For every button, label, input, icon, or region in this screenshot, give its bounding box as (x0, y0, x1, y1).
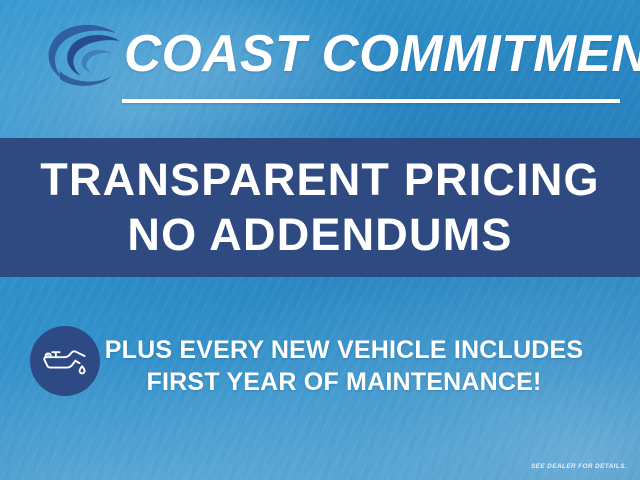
promo-section: PLUS EVERY NEW VEHICLE INCLUDES FIRST YE… (0, 300, 640, 410)
headline-line-1: TRANSPARENT PRICING (40, 153, 599, 208)
promo-line-2: FIRST YEAR OF MAINTENANCE! (100, 366, 588, 398)
header-divider-rule (122, 99, 620, 103)
headline-line-2: NO ADDENDUMS (127, 208, 512, 263)
promo-text-block: PLUS EVERY NEW VEHICLE INCLUDES FIRST YE… (100, 334, 640, 398)
coast-commitment-banner: COAST COMMITMENT TRANSPARENT PRICING NO … (0, 0, 640, 480)
promo-line-1: PLUS EVERY NEW VEHICLE INCLUDES (100, 334, 588, 366)
wave-swirl-logo-icon (38, 19, 124, 89)
oil-can-icon-badge (30, 326, 100, 396)
banner-header: COAST COMMITMENT (0, 0, 640, 138)
headline-band: TRANSPARENT PRICING NO ADDENDUMS (0, 138, 640, 277)
page-title: COAST COMMITMENT (124, 20, 617, 88)
oil-can-icon (42, 344, 88, 378)
disclaimer-text: SEE DEALER FOR DETAILS. (531, 463, 627, 470)
